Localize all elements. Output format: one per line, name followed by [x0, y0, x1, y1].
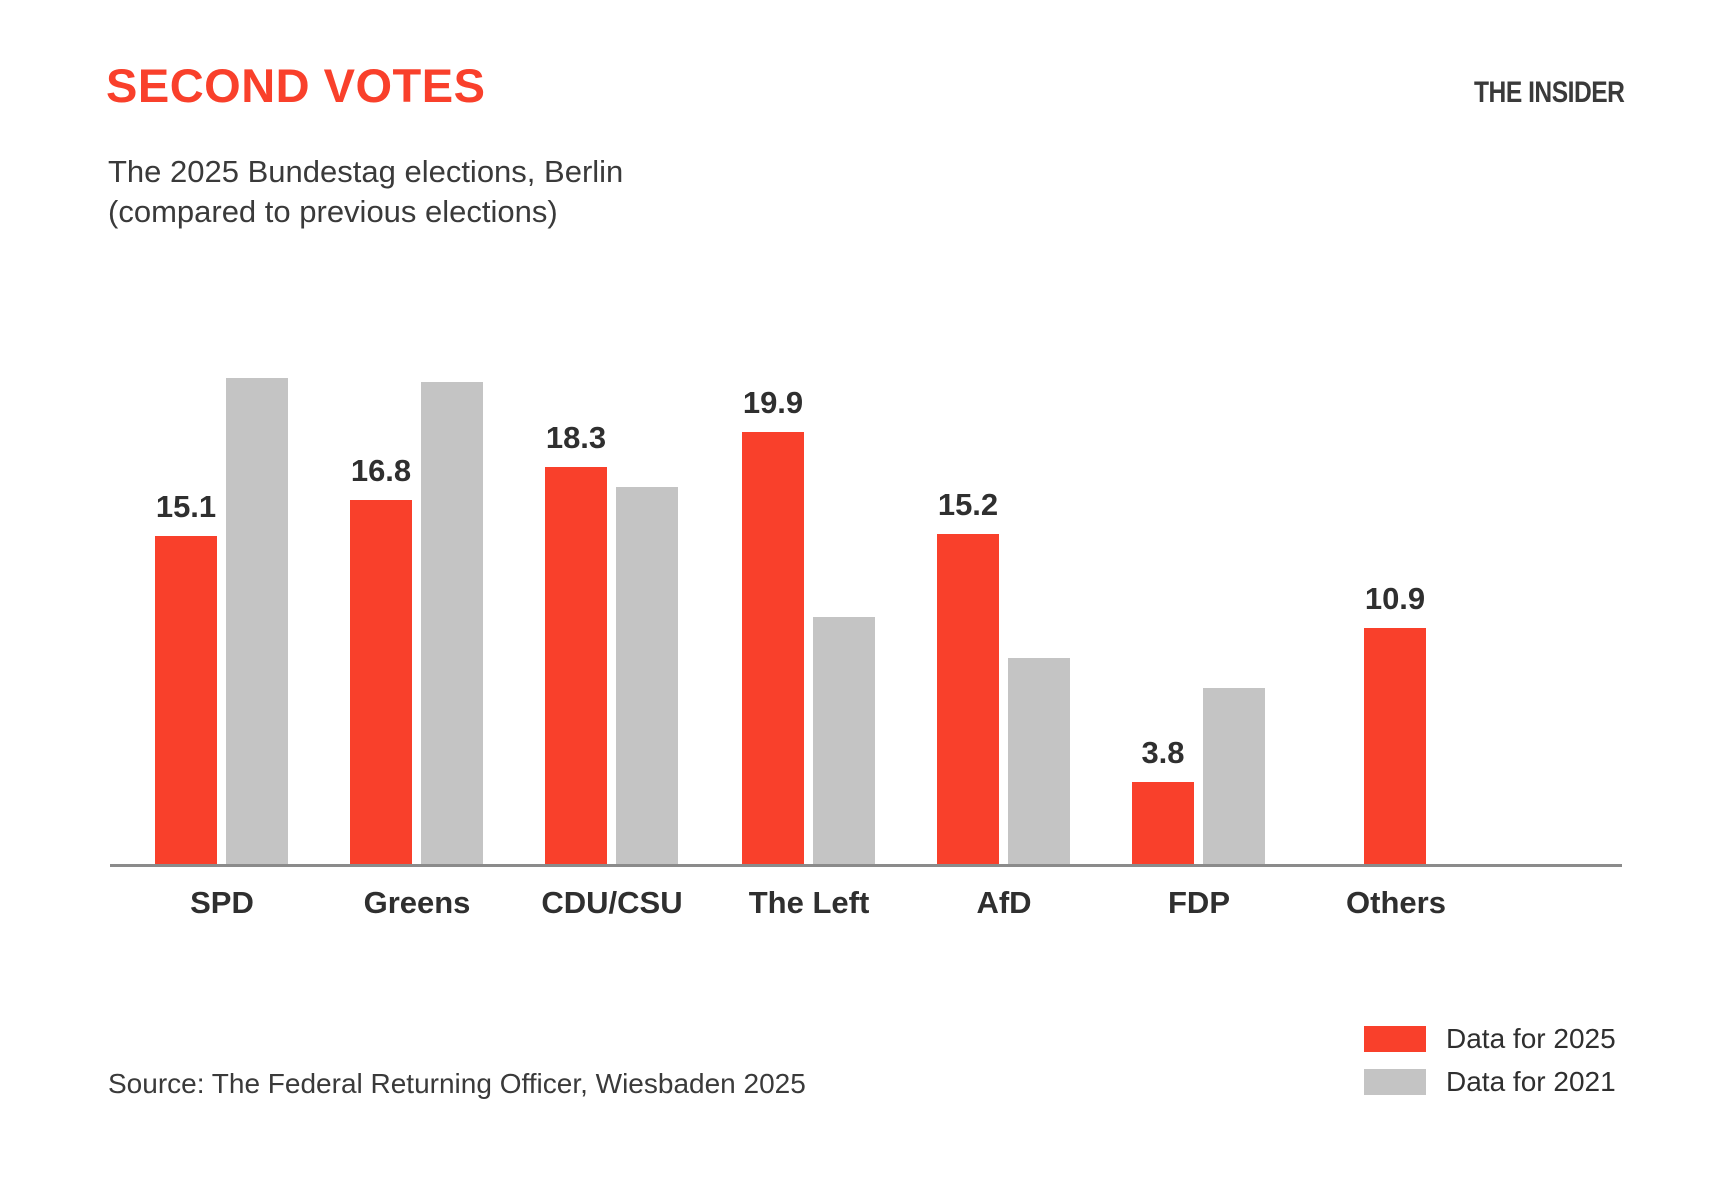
bar-previous-5[interactable]	[1203, 688, 1265, 864]
bar-current-4[interactable]: 15.2	[937, 534, 999, 864]
bar-group-2: 18.3	[545, 300, 680, 864]
bar-group-5: 3.8	[1132, 300, 1267, 864]
bar-group-0: 15.1	[155, 300, 290, 864]
bar-value-label: 15.2	[938, 487, 998, 523]
legend-item-previous[interactable]: Data for 2021	[1364, 1065, 1624, 1099]
chart-legend: Data for 2025 Data for 2021	[1364, 1022, 1624, 1108]
legend-swatch-icon	[1364, 1026, 1426, 1052]
legend-item-current[interactable]: Data for 2025	[1364, 1022, 1624, 1056]
bar-value-label: 18.3	[546, 420, 606, 456]
bar-group-1: 16.8	[350, 300, 485, 864]
x-tick-label-2: CDU/CSU	[541, 885, 682, 921]
bar-value-label: 19.9	[743, 385, 803, 421]
bar-current-5[interactable]: 3.8	[1132, 782, 1194, 864]
bar-value-label: 10.9	[1365, 581, 1425, 617]
x-tick-label-6: Others	[1346, 885, 1446, 921]
chart-subtitle: The 2025 Bundestag elections, Berlin (co…	[108, 152, 623, 231]
chart-plot-area: 15.1 16.8 18.3 19.9 15.2 3.8 10.9	[110, 300, 1622, 867]
bar-value-label: 3.8	[1141, 735, 1184, 771]
legend-label: Data for 2025	[1446, 1023, 1616, 1055]
x-tick-label-4: AfD	[976, 885, 1031, 921]
bar-current-1[interactable]: 16.8	[350, 500, 412, 864]
x-tick-label-5: FDP	[1168, 885, 1230, 921]
bar-previous-0[interactable]	[226, 378, 288, 864]
bar-previous-4[interactable]	[1008, 658, 1070, 864]
legend-swatch-icon	[1364, 1069, 1426, 1095]
bar-value-label: 16.8	[351, 453, 411, 489]
bar-previous-1[interactable]	[421, 382, 483, 864]
bar-current-2[interactable]: 18.3	[545, 467, 607, 864]
x-tick-label-3: The Left	[749, 885, 870, 921]
source-note: Source: The Federal Returning Officer, W…	[108, 1068, 806, 1100]
x-axis-tick-labels: SPD Greens CDU/CSU The Left AfD FDP Othe…	[110, 885, 1622, 935]
brand-logo: THE INSIDER	[1474, 76, 1624, 110]
page-title: SECOND VOTES	[106, 60, 485, 112]
bar-group-6: 10.9	[1328, 300, 1463, 864]
bar-value-label: 15.1	[156, 489, 216, 525]
chart-header: SECOND VOTES The 2025 Bundestag election…	[0, 0, 1732, 250]
bar-previous-2[interactable]	[616, 487, 678, 864]
bar-current-0[interactable]: 15.1	[155, 536, 217, 864]
bar-current-3[interactable]: 19.9	[742, 432, 804, 864]
x-tick-label-1: Greens	[364, 885, 471, 921]
bar-previous-3[interactable]	[813, 617, 875, 864]
bar-current-6[interactable]: 10.9	[1364, 628, 1426, 864]
bar-group-4: 15.2	[937, 300, 1072, 864]
x-tick-label-0: SPD	[190, 885, 254, 921]
legend-label: Data for 2021	[1446, 1066, 1616, 1098]
bar-group-3: 19.9	[742, 300, 877, 864]
x-axis-line	[110, 864, 1622, 867]
